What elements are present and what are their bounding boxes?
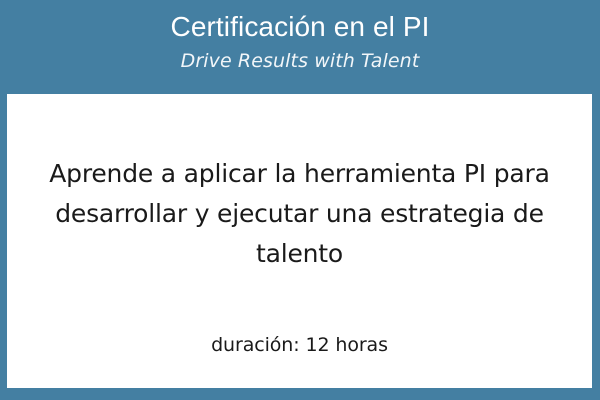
course-description: Aprende a aplicar la herramienta PI para… <box>7 154 592 274</box>
course-promo-card: Certificación en el PI Drive Results wit… <box>0 0 600 400</box>
page-subtitle: Drive Results with Talent <box>181 47 420 75</box>
page-title: Certificación en el PI <box>171 8 430 46</box>
card-header: Certificación en el PI Drive Results wit… <box>0 0 600 94</box>
content-panel: Aprende a aplicar la herramienta PI para… <box>7 94 592 388</box>
course-duration: duración: 12 horas <box>7 332 592 358</box>
